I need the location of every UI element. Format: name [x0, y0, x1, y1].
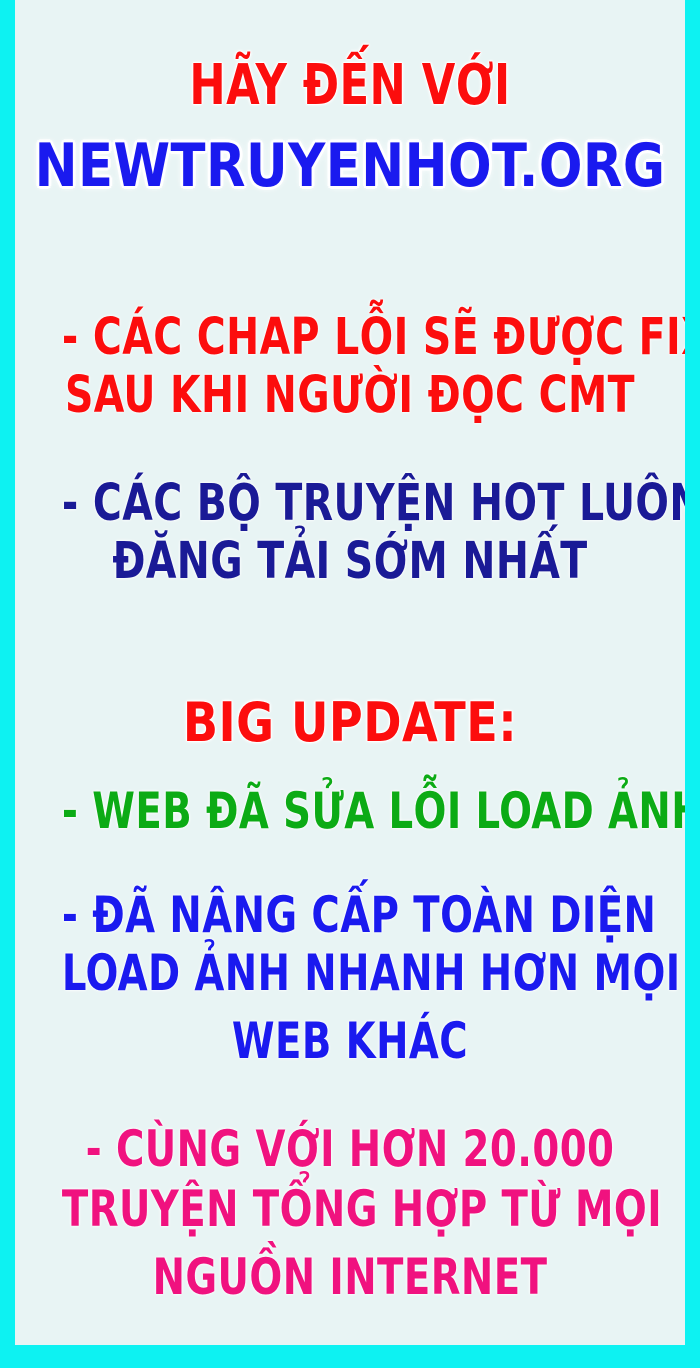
section-image-fix-block: - WEB ĐÃ SỬA LỖI LOAD ẢNH [15, 786, 685, 836]
promo-poster: HÃY ĐẾN VỚI NEWTRUYENHOT.ORG - CÁC CHAP … [0, 0, 700, 1368]
big-update-heading: BIG UPDATE: [32, 696, 669, 750]
site-name-newtruyenhot[interactable]: NEWTRUYENHOT.ORG [32, 136, 669, 196]
section-hot-line1-block: - CÁC BỘ TRUYỆN HOT LUÔN [15, 478, 685, 529]
header-block-line1: HÃY ĐẾN VỚI [15, 58, 685, 114]
section-catalog-line3-block: NGUỒN INTERNET [15, 1252, 685, 1302]
section-catalog-line1-block: - CÙNG VỚI HƠN 20.000 [15, 1124, 685, 1174]
section-catalog-line2: TRUYỆN TỔNG HỢP TỪ MỌI [62, 1184, 638, 1234]
section-hot-line1: - CÁC BỘ TRUYỆN HOT LUÔN [62, 478, 638, 529]
big-update-block: BIG UPDATE: [15, 696, 685, 750]
section-catalog-line1: - CÙNG VỚI HƠN 20.000 [62, 1124, 638, 1174]
section-catalog-line2-block: TRUYỆN TỔNG HỢP TỪ MỌI [15, 1184, 685, 1234]
section-upgrade-line2-block: LOAD ẢNH NHANH HƠN MỌI [15, 948, 685, 998]
section-upgrade-line3: WEB KHÁC [62, 1016, 638, 1066]
section-fix-line1: - CÁC CHAP LỖI SẼ ĐƯỢC FIX [62, 312, 638, 363]
poster-panel: HÃY ĐẾN VỚI NEWTRUYENHOT.ORG - CÁC CHAP … [15, 0, 685, 1345]
section-upgrade-line2: LOAD ẢNH NHANH HƠN MỌI [62, 948, 638, 998]
section-upgrade-line1: - ĐÃ NÂNG CẤP TOÀN DIỆN [62, 890, 638, 940]
header-block-line2: NEWTRUYENHOT.ORG [15, 136, 685, 196]
section-catalog-line3: NGUỒN INTERNET [62, 1252, 638, 1302]
section-fix-line2: SAU KHI NGƯỜI ĐỌC CMT [62, 370, 638, 421]
section-hot-line2-block: ĐĂNG TẢI SỚM NHẤT [15, 536, 685, 587]
headline-hay-den-voi: HÃY ĐẾN VỚI [62, 58, 638, 114]
section-fix-line2-block: SAU KHI NGƯỜI ĐỌC CMT [15, 370, 685, 421]
section-image-fix-line1: - WEB ĐÃ SỬA LỖI LOAD ẢNH [62, 786, 638, 836]
section-hot-line2: ĐĂNG TẢI SỚM NHẤT [62, 536, 638, 587]
section-upgrade-line1-block: - ĐÃ NÂNG CẤP TOÀN DIỆN [15, 890, 685, 940]
section-upgrade-line3-block: WEB KHÁC [15, 1016, 685, 1066]
section-fix-line1-block: - CÁC CHAP LỖI SẼ ĐƯỢC FIX [15, 312, 685, 363]
